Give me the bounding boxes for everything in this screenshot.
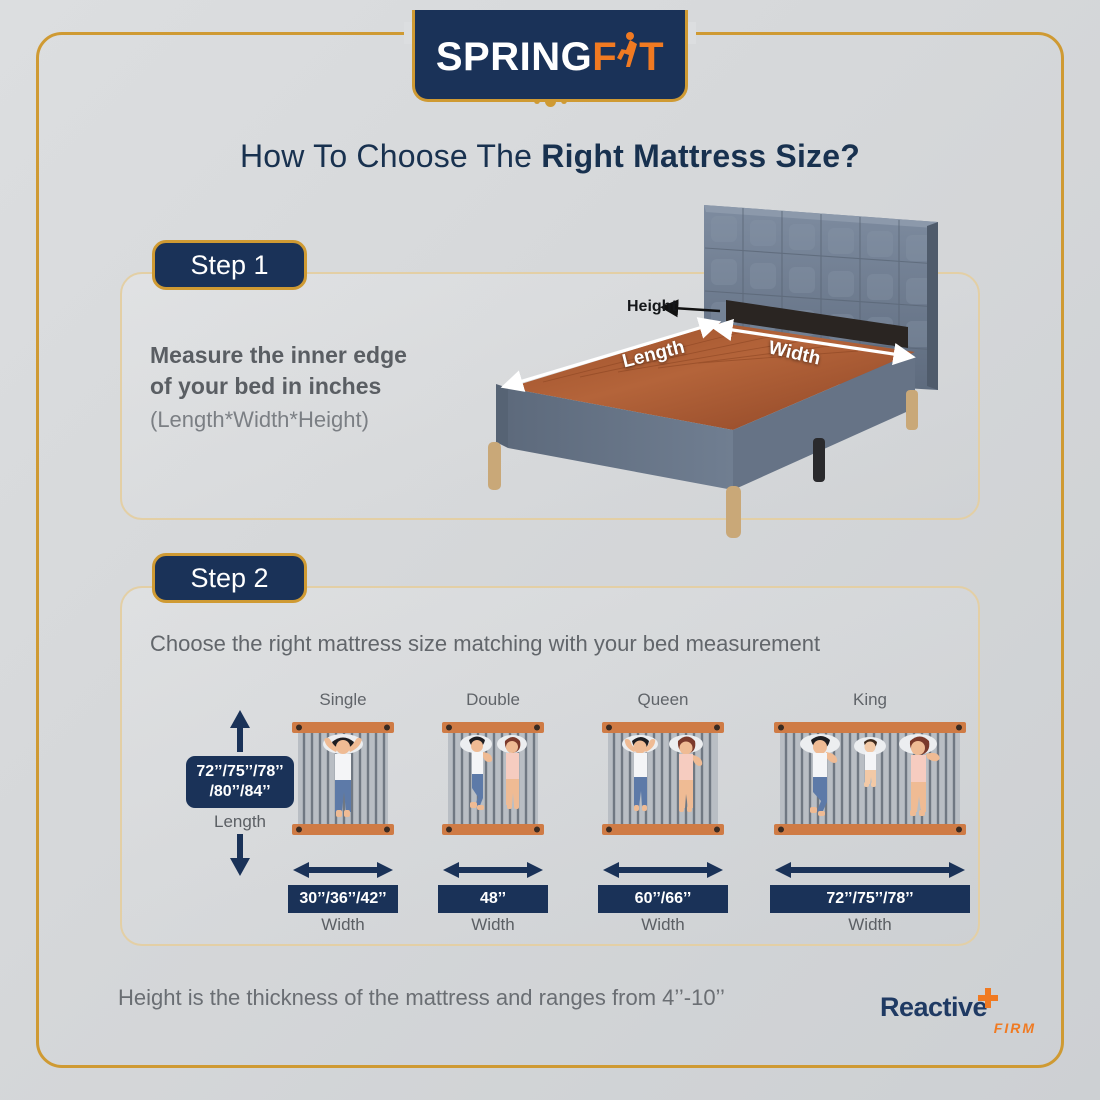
footer-note: Height is the thickness of the mattress … xyxy=(118,985,725,1011)
springfit-logo-text: SPRINGF T xyxy=(436,30,664,80)
reactive-logo-sub: FIRM xyxy=(994,1020,1036,1036)
length-axis: 72’’/75’’/78’’ /80’’/84’’ Length xyxy=(180,710,300,876)
step-1-instructions: Measure the inner edge of your bed in in… xyxy=(150,340,480,435)
step-1-formula: (Length*Width*Height) xyxy=(150,404,480,435)
mattress-column-queen: Queen xyxy=(598,690,728,935)
width-value-double: 48’’ xyxy=(438,885,548,913)
page-title-plain: How To Choose The xyxy=(240,138,541,174)
width-arrow-double-icon xyxy=(438,861,548,879)
step-2-instructions: Choose the right mattress size matching … xyxy=(150,628,910,659)
mattress-graphic-single xyxy=(288,714,398,849)
bed-illustration xyxy=(468,190,988,540)
bed-label-height: Height xyxy=(627,298,677,316)
step-1-line-2: of your bed in inches xyxy=(150,371,480,402)
length-value-badge: 72’’/75’’/78’’ /80’’/84’’ xyxy=(186,756,294,808)
page-title-bold: Right Mattress Size? xyxy=(541,138,860,174)
width-value-single: 30’’/36’’/42’’ xyxy=(288,885,398,913)
mattress-column-double: Double xyxy=(438,690,548,935)
length-value-line-2: /80’’/84’’ xyxy=(193,782,287,802)
plus-cross-icon xyxy=(978,988,998,1013)
mattress-column-single: Single xyxy=(288,690,398,935)
length-caption: Length xyxy=(180,812,300,832)
mattress-label-king: King xyxy=(770,690,970,710)
width-arrow-queen-icon xyxy=(598,861,728,879)
length-arrow-up-icon xyxy=(180,710,300,752)
step-1-badge: Step 1 xyxy=(152,240,307,290)
mattress-label-double: Double xyxy=(438,690,548,710)
width-value-queen: 60’’/66’’ xyxy=(598,885,728,913)
logo-letter-t: T xyxy=(639,35,664,80)
mattress-graphic-king xyxy=(770,714,970,849)
width-caption-queen: Width xyxy=(598,915,728,935)
person-figure-baby xyxy=(864,739,877,787)
mattress-size-comparison: 72’’/75’’/78’’ /80’’/84’’ Length Single xyxy=(150,690,970,940)
logo-word-spring: SPRING xyxy=(436,35,592,80)
logo-letter-f: F xyxy=(592,35,617,80)
page-title: How To Choose The Right Mattress Size? xyxy=(0,138,1100,175)
mattress-label-queen: Queen xyxy=(598,690,728,710)
step-1-line-1: Measure the inner edge xyxy=(150,340,480,371)
step-2-badge: Step 2 xyxy=(152,553,307,603)
width-caption-king: Width xyxy=(770,915,970,935)
mattress-graphic-double xyxy=(438,714,548,849)
reactive-logo-name: Reactive xyxy=(880,992,1050,1023)
width-arrow-king-icon xyxy=(770,861,970,879)
mattress-graphic-queen xyxy=(598,714,728,849)
springfit-logo-badge: SPRINGF T xyxy=(412,10,688,102)
width-arrow-single-icon xyxy=(288,861,398,879)
width-caption-single: Width xyxy=(288,915,398,935)
reactive-firm-logo: Reactive FIRM xyxy=(880,992,1050,1040)
mattress-label-single: Single xyxy=(288,690,398,710)
mattress-column-king: King xyxy=(770,690,970,935)
width-caption-double: Width xyxy=(438,915,548,935)
length-arrow-down-icon xyxy=(180,834,300,876)
length-value-line-1: 72’’/75’’/78’’ xyxy=(193,762,287,782)
width-value-king: 72’’/75’’/78’’ xyxy=(770,885,970,913)
running-figure-icon xyxy=(617,30,639,70)
